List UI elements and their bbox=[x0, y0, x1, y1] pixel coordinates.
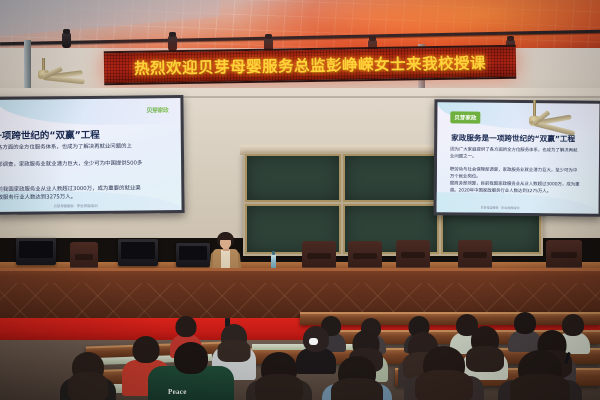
student-head bbox=[174, 342, 208, 374]
stage-chair bbox=[348, 241, 382, 268]
projection-screen-left: 贝芽家政 是一项跨世纪的“双赢”工程 提供了各方面的全方位服务体系，也成为了解决… bbox=[0, 95, 185, 215]
stage-chair bbox=[396, 240, 430, 268]
student-green-peace-hoodie: Peace bbox=[148, 342, 234, 400]
slide-title-left: 是一项跨世纪的“双赢”工程 bbox=[0, 127, 100, 142]
welcome-banner: 热烈欢迎贝芽母婴服务总监彭峥嵘女士来我校授课 bbox=[104, 45, 516, 85]
student-front-row-right bbox=[498, 350, 582, 400]
slide-left: 贝芽家政 是一项跨世纪的“双赢”工程 提供了各方面的全方位服务体系，也成为了解决… bbox=[0, 98, 182, 212]
slide-footer-right: 贝芽母婴服务 · 职业技能培训 bbox=[481, 206, 520, 210]
stage-chair bbox=[302, 241, 336, 268]
slide-body-right: 因为广大家庭提供了各方面的全方位服务体系，也成为了解决再就 业问题之一。 职劳动… bbox=[450, 147, 600, 196]
spotlight-icon bbox=[168, 36, 177, 51]
student-hair bbox=[68, 372, 108, 400]
student-front-row bbox=[246, 352, 312, 400]
student-hair bbox=[510, 374, 570, 400]
ceiling-fan-icon bbox=[496, 100, 572, 128]
stage-monitor bbox=[118, 239, 158, 266]
student-hair bbox=[331, 378, 383, 400]
slide-logo-left: 贝芽家政 bbox=[146, 105, 168, 114]
slide-body-left: 提供了各方面的全方位服务体系，也成为了解决再就业问题的上 大保障部调查，家政服务… bbox=[0, 142, 185, 203]
slide-logo-right: 贝芽家政 bbox=[450, 111, 480, 123]
ceiling-fan-icon bbox=[8, 58, 78, 84]
lecture-hall-photo: 热烈欢迎贝芽母婴服务总监彭峥嵘女士来我校授课 贝芽家政 是一项跨世纪的“双赢”工… bbox=[0, 0, 600, 400]
student-ponytail bbox=[60, 352, 116, 400]
stage-chair bbox=[458, 240, 492, 268]
stage-chair bbox=[546, 240, 582, 268]
speaker-fringe bbox=[218, 234, 233, 240]
chalkboard-panel bbox=[343, 154, 439, 202]
banner-text: 热烈欢迎贝芽母婴服务总监彭峥嵘女士来我校授课 bbox=[134, 51, 486, 79]
student-hair bbox=[255, 374, 303, 400]
slide-footer-left: 贝芽母婴服务 · 职业技能培训 bbox=[54, 203, 98, 208]
stage-chair bbox=[70, 242, 98, 268]
slide-title-right: 家政服务是一项跨世纪的“双赢”工程 bbox=[451, 132, 575, 144]
student-front-row bbox=[322, 356, 392, 400]
hoodie-text: Peace bbox=[168, 388, 187, 396]
chalkboard-panel bbox=[245, 154, 341, 202]
spotlight-icon bbox=[62, 33, 71, 48]
student-hair bbox=[415, 370, 473, 400]
student-front-row bbox=[404, 346, 484, 400]
student-head bbox=[176, 316, 197, 337]
stage-monitor bbox=[16, 238, 56, 265]
face-mask-icon bbox=[309, 338, 318, 345]
